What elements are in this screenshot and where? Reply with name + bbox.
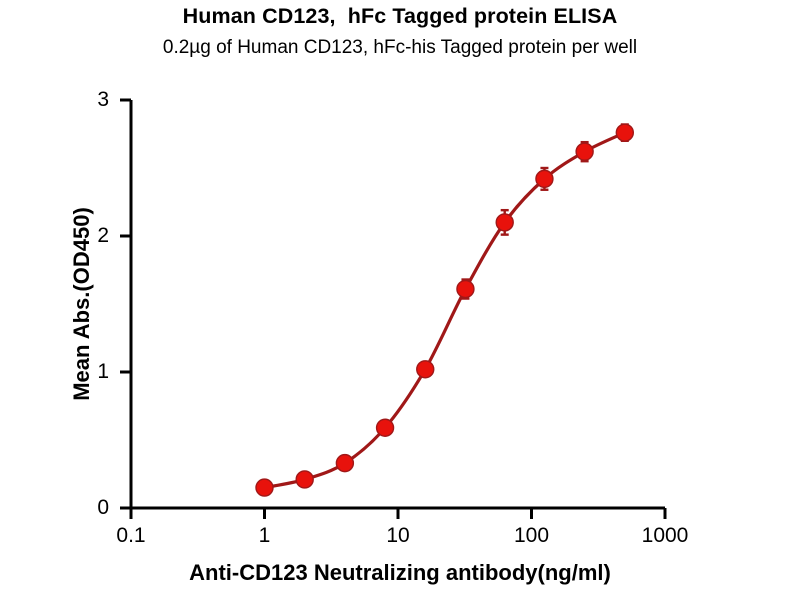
data-point-marker bbox=[576, 143, 593, 160]
y-tick-label: 1 bbox=[79, 361, 109, 382]
x-tick-label: 0.1 bbox=[91, 525, 171, 546]
axes-group bbox=[120, 100, 665, 519]
data-point-marker bbox=[417, 361, 434, 378]
data-point-marker bbox=[377, 419, 394, 436]
y-tick-label: 2 bbox=[79, 225, 109, 246]
plot-area bbox=[0, 0, 800, 600]
data-point-marker bbox=[256, 479, 273, 496]
data-point-marker bbox=[296, 471, 313, 488]
x-tick-label: 1 bbox=[225, 525, 305, 546]
data-point-marker bbox=[616, 124, 633, 141]
x-tick-label: 100 bbox=[492, 525, 572, 546]
x-tick-label: 1000 bbox=[625, 525, 705, 546]
data-series-group bbox=[256, 124, 633, 496]
elisa-chart-figure: Human CD123, hFc Tagged protein ELISA 0.… bbox=[0, 0, 800, 600]
data-point-marker bbox=[336, 455, 353, 472]
y-tick-label: 3 bbox=[79, 89, 109, 110]
y-tick-label: 0 bbox=[79, 497, 109, 518]
data-point-marker bbox=[457, 281, 474, 298]
x-tick-label: 10 bbox=[358, 525, 438, 546]
series-line bbox=[265, 133, 625, 488]
data-point-marker bbox=[496, 214, 513, 231]
data-point-marker bbox=[536, 170, 553, 187]
